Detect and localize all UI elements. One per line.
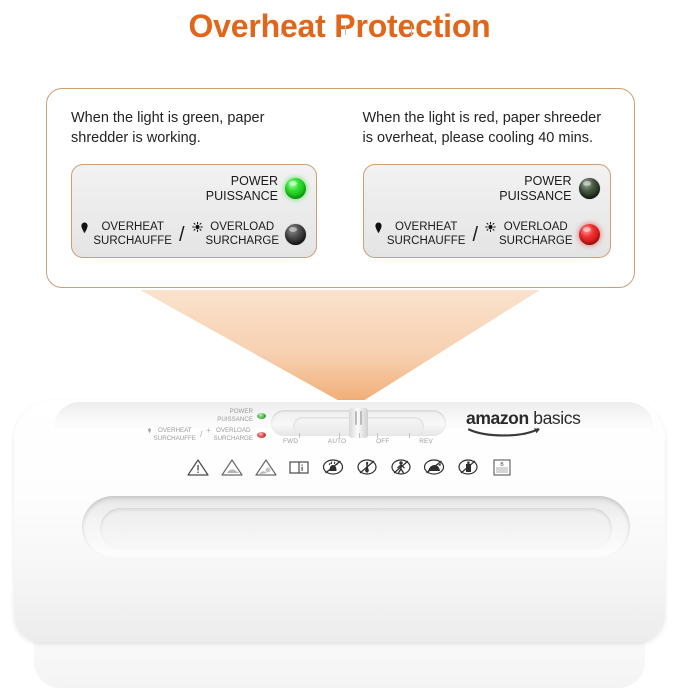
power-label: POWER PUISSANCE [206, 174, 278, 204]
overload-label-line2: SURCHARGE [499, 235, 572, 249]
shredder-power-label: POWER PUISSANCE [217, 408, 253, 423]
green-caption-line2: shredder is working. [71, 130, 201, 146]
callout-column-red: When the light is red, paper shreeder is… [345, 89, 635, 287]
mode-switch[interactable]: FWD AUTO OFF REV [271, 406, 446, 452]
certification-label-icon: B [489, 456, 515, 478]
green-caption: When the light is green, paper shredder … [71, 109, 329, 148]
shredder-power-led [257, 413, 266, 419]
shredder-overload-line1: OVERLOAD [213, 427, 253, 435]
power-label-line2: PUISSANCE [499, 189, 571, 204]
label-separator: / [472, 225, 478, 245]
overheat-label: OVERHEAT SURCHAUFFE [93, 221, 172, 248]
shredder-overheat-label: OVERHEAT SURCHAUFFE [154, 427, 196, 442]
callout-column-green: When the light is green, paper shredder … [47, 89, 345, 287]
sunburst-icon [206, 428, 211, 434]
alert-led-red-on [579, 224, 600, 245]
red-caption-line2: is overheat, please cooling 40 mins. [363, 130, 594, 146]
overheat-label: OVERHEAT SURCHAUFFE [387, 221, 466, 248]
shredder-power-row: POWER PUISSANCE [217, 408, 266, 423]
shredder-lid: POWER PUISSANCE OVERHEAT SURCHAUFFE / [14, 400, 665, 642]
power-indicator-row: POWER PUISSANCE [206, 174, 306, 204]
overload-label: OVERLOAD SURCHARGE [206, 221, 279, 248]
alert-indicator-row: OVERHEAT SURCHAUFFE / [80, 221, 306, 248]
warning-debris-triangle-icon [253, 456, 279, 478]
page-title: Overheat Protection [0, 0, 679, 52]
no-hands-icon [320, 456, 346, 478]
shredder-overload-group: OVERLOAD SURCHARGE [206, 427, 253, 442]
svg-text:B: B [500, 462, 504, 468]
power-indicator-row: POWER PUISSANCE [499, 174, 599, 204]
overheat-callout-box: When the light is green, paper shredder … [46, 88, 635, 288]
shredder-alert-led [257, 432, 266, 438]
sunburst-icon [192, 222, 203, 235]
overload-label: OVERLOAD SURCHARGE [499, 221, 572, 248]
overheat-label-line2: SURCHAUFFE [93, 235, 172, 249]
switch-option-rev[interactable]: REV [419, 438, 433, 445]
overheat-label-line1: OVERHEAT [387, 221, 466, 235]
switch-option-fwd[interactable]: FWD [283, 438, 298, 445]
safety-icons-row: B [185, 452, 515, 482]
shredder-overload-line2: SURCHARGE [213, 435, 253, 443]
shredder-overheat-line2: SURCHAUFFE [154, 435, 196, 443]
no-necktie-icon [354, 456, 380, 478]
warning-triangle-icon [185, 456, 211, 478]
label-separator: / [179, 225, 185, 245]
amazon-smile-icon [468, 427, 542, 437]
overload-group: OVERLOAD SURCHARGE [485, 221, 572, 248]
switch-labels: FWD AUTO OFF REV [283, 438, 433, 445]
no-spray-icon [455, 456, 481, 478]
overload-label-line2: SURCHARGE [206, 235, 279, 249]
overload-label-line1: OVERLOAD [499, 221, 572, 235]
read-manual-icon [286, 456, 312, 478]
amazon-basics-logo: amazon basics [466, 408, 616, 440]
shredder-label-separator: / [200, 430, 203, 439]
brand-text: amazon basics [466, 408, 616, 429]
red-caption-line1: When the light is red, paper shreeder [363, 110, 602, 126]
shredder-power-line1: POWER [217, 408, 253, 416]
thermometer-icon [147, 428, 152, 434]
warning-hand-triangle-icon [219, 456, 245, 478]
power-label-line1: POWER [499, 174, 571, 189]
shredder-overheat-group: OVERHEAT SURCHAUFFE [147, 427, 196, 442]
zoom-callout-cone [140, 290, 540, 408]
power-label: POWER PUISSANCE [499, 174, 571, 204]
green-caption-line1: When the light is green, paper [71, 110, 264, 126]
overload-label-line1: OVERLOAD [206, 221, 279, 235]
overheat-group: OVERHEAT SURCHAUFFE [79, 221, 172, 248]
power-label-line1: POWER [206, 174, 278, 189]
brand-amazon: amazon [466, 408, 529, 428]
overheat-group: OVERHEAT SURCHAUFFE [373, 221, 466, 248]
red-caption: When the light is red, paper shreeder is… [363, 109, 621, 148]
paper-shredder-product: POWER PUISSANCE OVERHEAT SURCHAUFFE / [0, 392, 679, 692]
led-panel-green: POWER PUISSANCE OVERHEAT SURCHAUFFE [71, 164, 317, 258]
brand-basics: basics [533, 408, 580, 428]
no-children-icon [388, 456, 414, 478]
shredder-power-line2: PUISSANCE [217, 416, 253, 424]
overload-group: OVERLOAD SURCHARGE [192, 221, 279, 248]
thermometer-icon [79, 222, 90, 235]
alert-led-off [285, 224, 306, 245]
led-panel-red: POWER PUISSANCE OVERHEAT SURCHAUFFE [363, 164, 611, 258]
power-label-line2: PUISSANCE [206, 189, 278, 204]
paper-feed-slot [82, 496, 630, 558]
no-pets-icon [421, 456, 447, 478]
power-led-off [579, 178, 600, 199]
overheat-label-line1: OVERHEAT [93, 221, 172, 235]
shredder-overheat-line1: OVERHEAT [154, 427, 196, 435]
alert-indicator-row: OVERHEAT SURCHAUFFE / [372, 221, 600, 248]
overheat-label-line2: SURCHAUFFE [387, 235, 466, 249]
shredder-control-panel: POWER PUISSANCE OVERHEAT SURCHAUFFE / [96, 408, 266, 444]
switch-option-auto[interactable]: AUTO [328, 438, 346, 445]
thermometer-icon [373, 222, 384, 235]
switch-option-off[interactable]: OFF [376, 438, 389, 445]
power-led-green-on [285, 178, 306, 199]
sunburst-icon [485, 222, 496, 235]
paper-feed-slot-opening [100, 508, 612, 549]
shredder-alert-row: OVERHEAT SURCHAUFFE / OVERLOAD SURCHAR [147, 427, 266, 442]
shredder-overload-label: OVERLOAD SURCHARGE [213, 427, 253, 442]
